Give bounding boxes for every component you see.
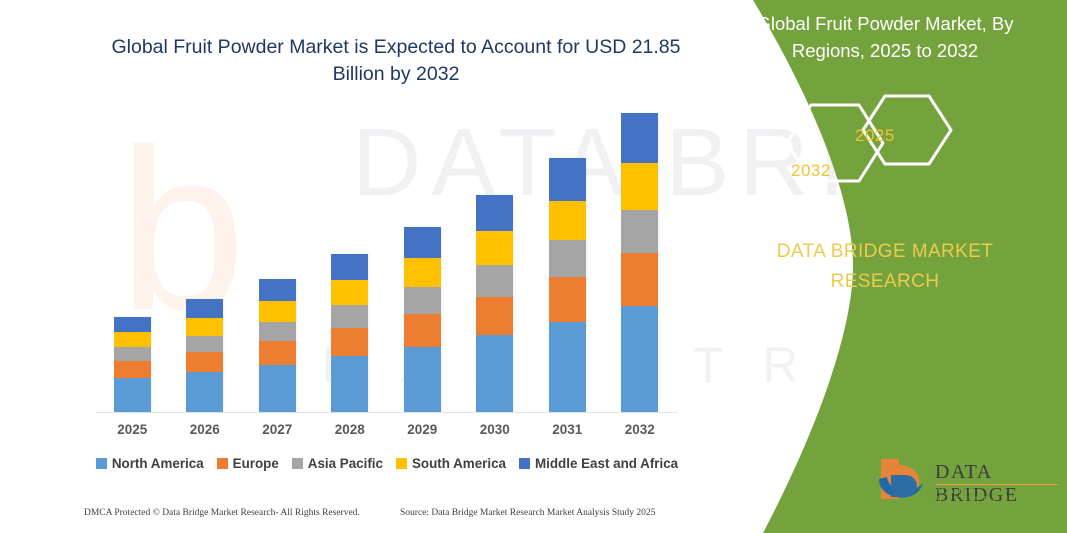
bar-segment bbox=[114, 347, 151, 361]
logo-mark-icon bbox=[877, 455, 933, 507]
legend-swatch-icon bbox=[519, 458, 530, 469]
bar-column bbox=[169, 120, 241, 412]
bar-segment bbox=[549, 277, 586, 322]
hexagon-label-start-year: 2032 bbox=[791, 161, 831, 181]
x-axis-tick-label: 2029 bbox=[386, 422, 458, 437]
bar-segment bbox=[404, 314, 441, 347]
brand-name: DATA BRIDGE MARKET RESEARCH bbox=[729, 237, 1041, 297]
bar-segment bbox=[476, 231, 513, 265]
bar-segment bbox=[331, 356, 368, 412]
bar-segment bbox=[259, 279, 296, 301]
bar-column bbox=[531, 120, 603, 412]
bar-segment bbox=[621, 210, 658, 253]
bar-column bbox=[96, 120, 168, 412]
bar-stack bbox=[621, 113, 658, 412]
hexagon-group bbox=[757, 88, 1047, 208]
legend-item[interactable]: Asia Pacific bbox=[292, 456, 383, 471]
bar-segment bbox=[549, 322, 586, 412]
footer-copyright: DMCA Protected © Data Bridge Market Rese… bbox=[84, 508, 360, 518]
bar-stack bbox=[186, 299, 223, 412]
chart-baseline bbox=[96, 412, 678, 413]
chart-legend: North AmericaEuropeAsia PacificSouth Ame… bbox=[96, 456, 678, 471]
bar-segment bbox=[186, 336, 223, 352]
bar-segment bbox=[186, 352, 223, 372]
infographic-root: b DATA BRIDGE M A R K E T R E S E A R C … bbox=[0, 0, 1067, 533]
bar-segment bbox=[621, 253, 658, 306]
legend-swatch-icon bbox=[96, 458, 107, 469]
green-panel-content: Global Fruit Powder Market, By Regions, … bbox=[707, 0, 1067, 533]
bar-segment bbox=[114, 378, 151, 412]
legend-label: Middle East and Africa bbox=[535, 456, 678, 471]
bar-segment bbox=[404, 287, 441, 314]
footer-source: Source: Data Bridge Market Research Mark… bbox=[400, 508, 655, 518]
legend-item[interactable]: Middle East and Africa bbox=[519, 456, 678, 471]
bar-segment bbox=[259, 322, 296, 341]
x-axis-tick-label: 2026 bbox=[169, 422, 241, 437]
bar-segment bbox=[621, 163, 658, 210]
legend-swatch-icon bbox=[217, 458, 228, 469]
legend-label: South America bbox=[412, 456, 506, 471]
hexagon-shapes bbox=[757, 88, 1047, 208]
bar-stack bbox=[114, 317, 151, 412]
legend-item[interactable]: South America bbox=[396, 456, 506, 471]
bar-segment bbox=[114, 332, 151, 347]
x-axis-tick-label: 2027 bbox=[241, 422, 313, 437]
legend-label: Asia Pacific bbox=[308, 456, 383, 471]
bar-segment bbox=[621, 113, 658, 163]
bar-stack bbox=[476, 195, 513, 412]
bar-segment bbox=[476, 297, 513, 335]
bar-stack bbox=[331, 254, 368, 412]
x-axis-labels: 20252026202720282029203020312032 bbox=[96, 422, 676, 437]
logo-divider bbox=[936, 484, 1058, 485]
bar-segment bbox=[621, 306, 658, 412]
data-bridge-logo: DATA BRIDGE MARKET RESEARCH bbox=[877, 455, 1067, 515]
legend-swatch-icon bbox=[292, 458, 303, 469]
x-axis-tick-label: 2032 bbox=[604, 422, 676, 437]
x-axis-tick-label: 2030 bbox=[459, 422, 531, 437]
legend-label: North America bbox=[112, 456, 204, 471]
legend-swatch-icon bbox=[396, 458, 407, 469]
bar-segment bbox=[331, 328, 368, 356]
stacked-bar-chart bbox=[96, 120, 676, 412]
bar-segment bbox=[259, 341, 296, 365]
bar-segment bbox=[186, 299, 223, 318]
page-title: Global Fruit Powder Market is Expected t… bbox=[96, 34, 696, 88]
bar-segment bbox=[404, 347, 441, 412]
chart-panel: Global Fruit Powder Market is Expected t… bbox=[0, 0, 760, 533]
bar-segment bbox=[331, 280, 368, 305]
bar-segment bbox=[404, 258, 441, 287]
bar-segment bbox=[114, 317, 151, 333]
bar-segment bbox=[549, 201, 586, 241]
bar-segment bbox=[186, 318, 223, 336]
bar-segment bbox=[114, 361, 151, 378]
bar-column bbox=[604, 120, 676, 412]
bar-segment bbox=[549, 158, 586, 200]
bar-column bbox=[386, 120, 458, 412]
bar-segment bbox=[549, 240, 586, 277]
bar-segment bbox=[259, 365, 296, 412]
legend-item[interactable]: Europe bbox=[217, 456, 279, 471]
hexagon-label-end-year: 2025 bbox=[855, 126, 895, 146]
bar-segment bbox=[476, 195, 513, 231]
bar-stack bbox=[549, 158, 586, 412]
bar-segment bbox=[331, 254, 368, 280]
bar-segment bbox=[331, 305, 368, 328]
legend-label: Europe bbox=[233, 456, 279, 471]
bar-segment bbox=[259, 301, 296, 322]
logo-subtitle: MARKET RESEARCH bbox=[937, 486, 1067, 504]
bar-stack bbox=[404, 227, 441, 412]
bar-segment bbox=[476, 335, 513, 412]
x-axis-tick-label: 2025 bbox=[96, 422, 168, 437]
bar-segment bbox=[186, 372, 223, 412]
bar-segment bbox=[476, 265, 513, 296]
bar-stack bbox=[259, 279, 296, 412]
legend-item[interactable]: North America bbox=[96, 456, 204, 471]
panel-title: Global Fruit Powder Market, By Regions, … bbox=[729, 10, 1041, 64]
bar-segment bbox=[404, 227, 441, 258]
bar-column bbox=[314, 120, 386, 412]
bar-column bbox=[241, 120, 313, 412]
bar-column bbox=[459, 120, 531, 412]
x-axis-tick-label: 2031 bbox=[531, 422, 603, 437]
x-axis-tick-label: 2028 bbox=[314, 422, 386, 437]
